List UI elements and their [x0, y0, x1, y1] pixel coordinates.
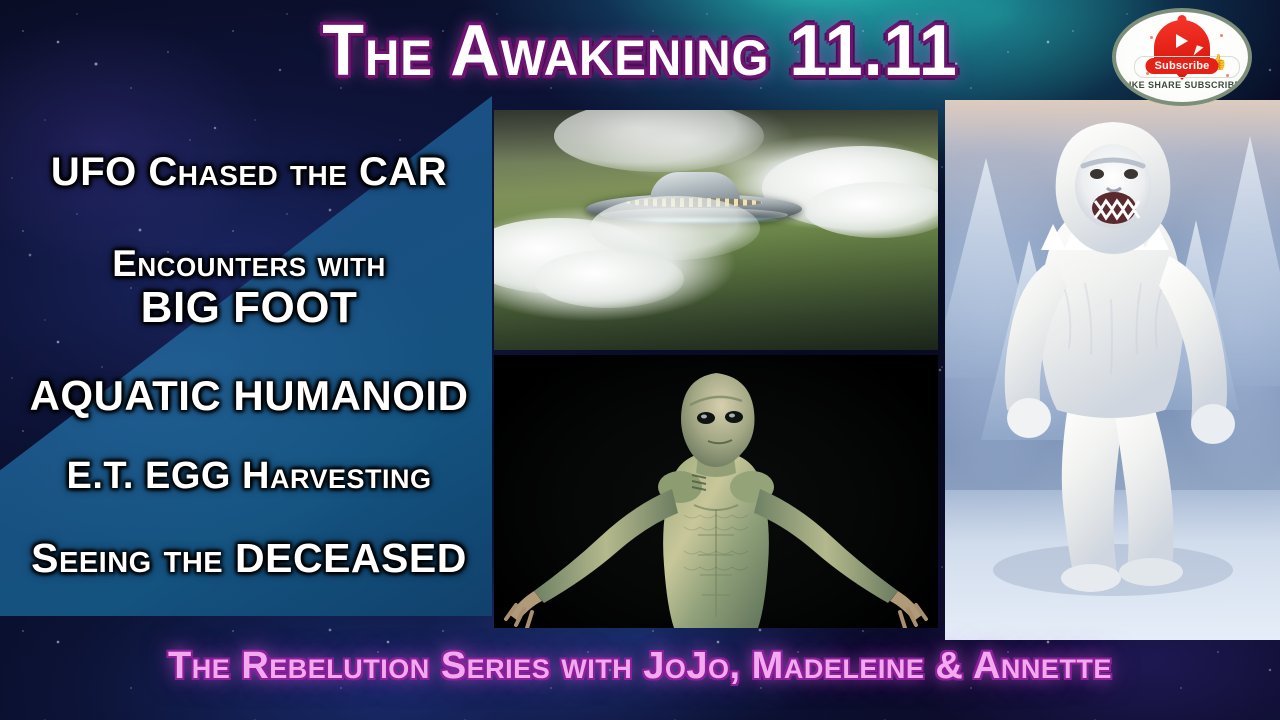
cloud-shape	[554, 110, 764, 172]
topic-item-et-egg: E.T. EGG Harvesting	[6, 455, 492, 498]
page-title: The Awakening 11.11	[32, 8, 1248, 94]
yeti-figure-icon	[945, 100, 1280, 640]
topic-item-aquatic-humanoid: AQUATIC HUMANOID	[6, 372, 492, 420]
subscribe-button[interactable]: Subscribe	[1146, 58, 1219, 74]
topic-item-ufo: UFO Chased the CAR	[6, 150, 492, 195]
topic-item-bigfoot-line1: Encounters with	[6, 243, 492, 285]
alien-figure-icon	[494, 355, 938, 628]
aquatic-humanoid-photo	[494, 355, 938, 628]
ufo-photo	[494, 110, 938, 350]
yeti-bigfoot-photo	[945, 100, 1280, 640]
topic-item-deceased: Seeing the DECEASED	[6, 535, 492, 582]
youtube-thumbnail: The Awakening 11.11 UFO Chased the CAR E…	[0, 0, 1280, 720]
play-icon	[1176, 34, 1188, 48]
cloud-shape	[590, 196, 760, 260]
topic-item-bigfoot-line2: BIG FOOT	[6, 283, 492, 333]
badge-caption-label: LIKE SHARE SUBSCRIBE	[1116, 80, 1248, 90]
series-caption: The Rebelution Series with JoJo, Madelei…	[0, 645, 1280, 688]
cloud-shape	[804, 182, 938, 238]
subscribe-badge[interactable]: 👍 Subscribe LIKE SHARE SUBSCRIBE	[1112, 8, 1252, 106]
